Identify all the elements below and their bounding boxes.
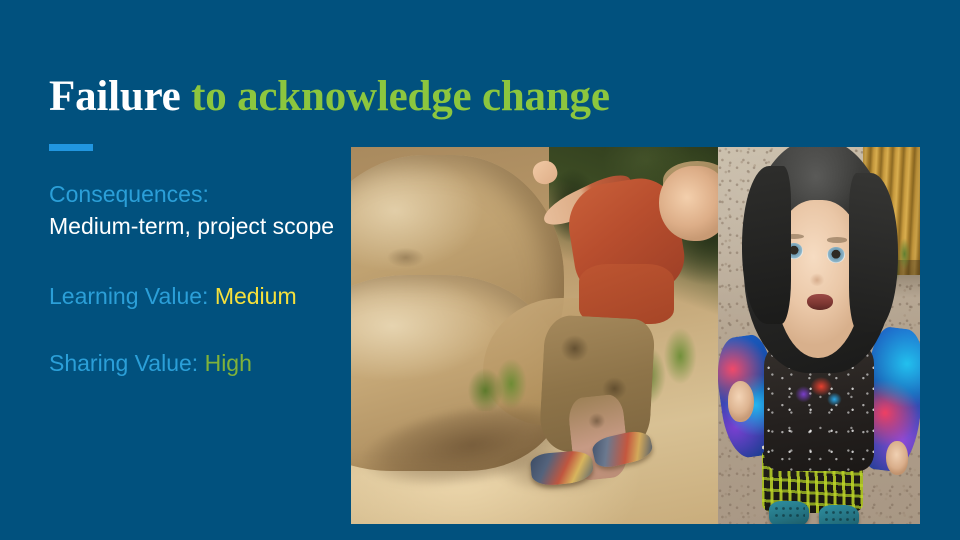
toddler-hand-left: [728, 381, 754, 422]
slide-canvas: Failure to acknowledge change Consequenc…: [0, 0, 960, 540]
field-value-sharing-value: High: [205, 350, 252, 376]
boy-torso-lower: [579, 264, 674, 324]
boy-figure: [351, 147, 718, 524]
spacer: [49, 262, 349, 282]
field-label-sharing-value: Sharing Value:: [49, 350, 205, 376]
boy-shoe-front: [530, 450, 595, 487]
boy-hand: [530, 157, 560, 186]
page-title-emphasis: Failure: [49, 73, 191, 120]
image-panel: [351, 147, 920, 524]
field-label-learning-value: Learning Value:: [49, 283, 215, 309]
toddler-hood-brim-right: [849, 173, 897, 331]
page-title: Failure to acknowledge change: [49, 74, 610, 119]
toddler-eyebrow-right: [827, 237, 847, 242]
toddler-hood-brim-left: [742, 166, 790, 324]
page-title-remainder: to acknowledge change: [191, 73, 610, 120]
field-label-consequences: Consequences:: [49, 180, 349, 208]
field-consequences: Consequences: Medium-term, project scope: [49, 180, 349, 245]
field-sharing-value: Sharing Value: High: [49, 349, 349, 379]
toddler-figure: [718, 147, 920, 524]
field-value-consequences: Medium-term, project scope: [49, 208, 349, 245]
toddler-shoe-left: [769, 501, 809, 524]
toddler-hand-right: [886, 441, 908, 475]
content-text-column: Consequences: Medium-term, project scope…: [49, 180, 349, 379]
toddler-mouth: [807, 294, 833, 310]
photo-boy-running-on-dirt-mound: [351, 147, 718, 524]
title-accent-rule: [49, 144, 93, 151]
field-value-learning-value: Medium: [215, 283, 297, 309]
field-learning-value: Learning Value: Medium: [49, 282, 349, 312]
photo-toddler-in-black-hood: [718, 147, 920, 524]
toddler-shoe-right: [819, 505, 859, 524]
spacer: [49, 329, 349, 349]
